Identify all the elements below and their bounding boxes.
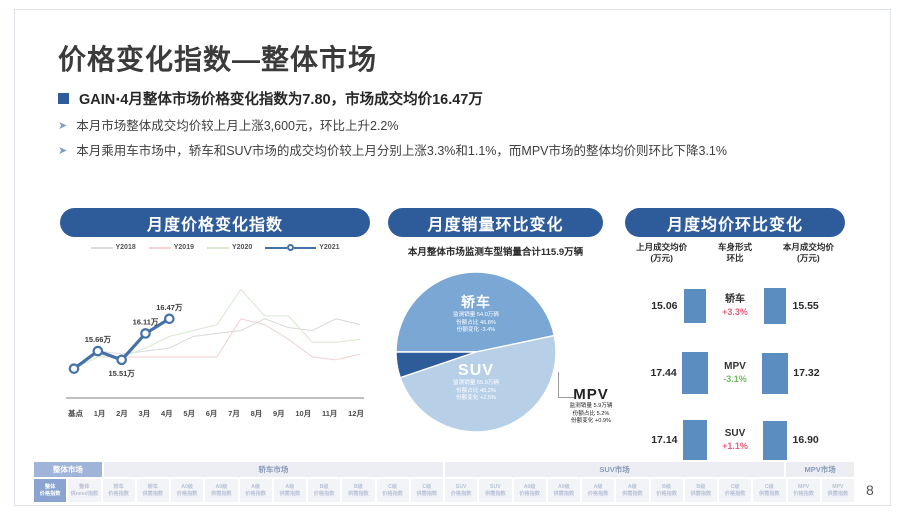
prev-value: 17.44 bbox=[625, 367, 682, 379]
bottom-nav-groups[interactable]: 整体市场轿车市场SUV市场MPV市场 bbox=[33, 461, 855, 478]
page-number: 8 bbox=[866, 482, 874, 498]
nav-tab-21[interactable]: C级供需指数 bbox=[752, 478, 786, 503]
panel-volume-share-title: 月度销量环比变化 bbox=[388, 208, 603, 237]
data-point-label: 15.66万 bbox=[85, 335, 112, 344]
prev-bar-box bbox=[683, 289, 708, 323]
line-chart-legend: Y2018Y2019Y2020Y2021 bbox=[60, 244, 370, 251]
nav-tab-line2: 供需指数 bbox=[348, 491, 369, 498]
nav-group-SUV市场[interactable]: SUV市场 bbox=[444, 461, 785, 478]
row-name: 轿车 bbox=[707, 294, 762, 306]
curr-value: 16.90 bbox=[787, 434, 845, 446]
pie-label-suv: SUV监测销量 55.9万辆份额占比 48.2%份额变化 +2.5% bbox=[416, 362, 536, 403]
bottom-navigation[interactable]: 整体市场轿车市场SUV市场MPV市场 整体价格指数整体供need指数轿车价格指数… bbox=[33, 461, 855, 503]
line-chart-x-axis: 基点1月2月3月4月5月6月7月8月9月10月11月12月 bbox=[68, 408, 364, 419]
panel-avg-price-change: 月度均价环比变化 上月成交均价(万元)车身形式环比本月成交均价(万元) 15.0… bbox=[625, 208, 845, 446]
pie-label-mpv: MPV监测销量 5.9万辆份额占比 5.2%份额变化 +0.9% bbox=[548, 386, 634, 426]
nav-group-MPV市场[interactable]: MPV市场 bbox=[785, 461, 855, 478]
prev-bar-box bbox=[682, 352, 708, 394]
nav-tab-line2: 价格指数 bbox=[314, 491, 335, 498]
pie-subtitle: 本月整体市场监测车型销量合计115.9万辆 bbox=[388, 244, 603, 258]
nav-tab-line2: 供need指数 bbox=[71, 491, 99, 498]
nav-tab-12[interactable]: SUV价格指数 bbox=[444, 478, 478, 503]
legend-label: Y2020 bbox=[232, 244, 252, 251]
nav-tab-3[interactable]: 轿车供需指数 bbox=[136, 478, 170, 503]
data-point-marker bbox=[165, 315, 173, 323]
bar-column-header: 车身形式环比 bbox=[698, 242, 771, 264]
nav-tab-line2: 价格指数 bbox=[177, 491, 198, 498]
nav-tab-1[interactable]: 整体供need指数 bbox=[67, 478, 101, 503]
pie-label-name: 轿车 bbox=[416, 292, 536, 312]
nav-tab-line2: 价格指数 bbox=[519, 491, 540, 498]
nav-tab-11[interactable]: C级供需指数 bbox=[410, 478, 444, 503]
panel-avg-price-change-title: 月度均价环比变化 bbox=[625, 208, 845, 237]
frame-top-rule bbox=[14, 9, 891, 10]
nav-group-label: SUV市场 bbox=[599, 464, 629, 475]
curr-bar bbox=[764, 288, 786, 324]
col-header-line1: 本月成交均价 bbox=[772, 242, 845, 253]
nav-tab-20[interactable]: C级价格指数 bbox=[718, 478, 752, 503]
nav-tab-line2: 供需指数 bbox=[759, 491, 780, 498]
data-point-label: 16.47万 bbox=[156, 303, 183, 312]
bar-column-headers: 上月成交均价(万元)车身形式环比本月成交均价(万元) bbox=[625, 242, 845, 264]
legend-item-Y2019: Y2019 bbox=[149, 244, 194, 251]
nav-group-label: 轿车市场 bbox=[258, 464, 288, 475]
nav-tab-line2: 价格指数 bbox=[245, 491, 266, 498]
pie-label-row: 份额变化 +2.5% bbox=[416, 395, 536, 403]
bar-row-SUV: 17.14SUV+1.1%16.90 bbox=[625, 414, 845, 466]
nav-tab-2[interactable]: 轿车价格指数 bbox=[102, 478, 136, 503]
curr-value: 17.32 bbox=[788, 367, 845, 379]
nav-tab-line2: 供需指数 bbox=[279, 491, 300, 498]
data-point-marker bbox=[117, 356, 125, 364]
nav-tab-line2: 供需指数 bbox=[690, 491, 711, 498]
col-header-line1: 上月成交均价 bbox=[625, 242, 698, 253]
bar-row-MPV: 17.44MPV-3.1%17.32 bbox=[625, 347, 845, 399]
sub-bullet-1: ➤ 本月市场整体成交均价较上月上涨3,600元，环比上升2.2% bbox=[58, 118, 399, 134]
prev-bar bbox=[684, 289, 706, 323]
legend-label: Y2019 bbox=[174, 244, 194, 251]
x-tick-label: 10月 bbox=[295, 408, 311, 419]
nav-tab-23[interactable]: MPV供需指数 bbox=[821, 478, 855, 503]
nav-tab-8[interactable]: B级价格指数 bbox=[307, 478, 341, 503]
row-label-group: 轿车+3.3% bbox=[707, 294, 762, 318]
nav-tab-6[interactable]: A级价格指数 bbox=[239, 478, 273, 503]
headline-text: GAIN‧4月整体市场价格变化指数为7.80，市场成交均价16.47万 bbox=[79, 88, 483, 109]
col-header-line1: 车身形式 bbox=[698, 242, 771, 253]
curr-bar bbox=[763, 421, 787, 460]
headline-bullet: GAIN‧4月整体市场价格变化指数为7.80，市场成交均价16.47万 bbox=[58, 88, 483, 109]
arrow-right-icon: ➤ bbox=[58, 118, 67, 134]
nav-tab-line2: 价格指数 bbox=[108, 491, 129, 498]
nav-tab-line2: 供需指数 bbox=[142, 491, 163, 498]
panel-price-index-title: 月度价格变化指数 bbox=[60, 208, 370, 237]
x-tick-label: 12月 bbox=[348, 408, 364, 419]
x-tick-label: 11月 bbox=[322, 408, 337, 419]
nav-tab-0[interactable]: 整体价格指数 bbox=[33, 478, 67, 503]
legend-item-Y2021: Y2021 bbox=[265, 244, 339, 251]
data-point-marker bbox=[70, 364, 78, 372]
bar-row-轿车: 15.06轿车+3.3%15.55 bbox=[625, 280, 845, 332]
curr-bar bbox=[762, 353, 788, 394]
row-name: SUV bbox=[707, 428, 762, 440]
bar-column-header: 上月成交均价(万元) bbox=[625, 242, 698, 264]
nav-tab-4[interactable]: A0级价格指数 bbox=[170, 478, 204, 503]
nav-tab-line2: 供需指数 bbox=[416, 491, 437, 498]
nav-tab-line2: 价格指数 bbox=[588, 491, 609, 498]
curr-bar-box bbox=[763, 421, 788, 460]
nav-tab-line2: 供需指数 bbox=[827, 491, 848, 498]
x-tick-label: 2月 bbox=[116, 408, 128, 419]
frame-bottom-rule bbox=[14, 505, 891, 506]
nav-tab-7[interactable]: A级供需指数 bbox=[273, 478, 307, 503]
nav-tab-line2: 供需指数 bbox=[485, 491, 506, 498]
sub-bullet-2-text: 本月乘用车市场中，轿车和SUV市场的成交均价较上月分别上涨3.3%和1.1%，而… bbox=[76, 143, 727, 159]
nav-tab-16[interactable]: A级价格指数 bbox=[581, 478, 615, 503]
pie-chart-plot: 轿车监测销量 54.0万辆份额占比 46.8%份额变化 -3.4%SUV监测销量… bbox=[388, 264, 603, 444]
legend-item-Y2020: Y2020 bbox=[207, 244, 252, 251]
x-tick-label: 1月 bbox=[94, 408, 106, 419]
x-tick-label: 6月 bbox=[206, 408, 218, 419]
curr-bar-box bbox=[763, 288, 788, 324]
x-tick-label: 4月 bbox=[161, 408, 173, 419]
nav-tab-line2: 供需指数 bbox=[622, 491, 643, 498]
data-point-marker bbox=[141, 329, 149, 337]
x-tick-label: 5月 bbox=[183, 408, 195, 419]
nav-tab-line2: 价格指数 bbox=[451, 491, 472, 498]
page-title: 价格变化指数—整体市场 bbox=[58, 38, 377, 78]
nav-tab-19[interactable]: B级供需指数 bbox=[684, 478, 718, 503]
col-header-line2: (万元) bbox=[625, 253, 698, 264]
x-tick-label: 9月 bbox=[273, 408, 285, 419]
slide-root: 价格变化指数—整体市场 GAIN‧4月整体市场价格变化指数为7.80，市场成交均… bbox=[0, 0, 905, 514]
nav-tab-14[interactable]: A0级价格指数 bbox=[513, 478, 547, 503]
x-tick-label: 3月 bbox=[139, 408, 151, 419]
line-chart-plot: 15.66万15.51万16.11万16.47万 基点1月2月3月4月5月6月7… bbox=[60, 256, 370, 431]
bar-column-header: 本月成交均价(万元) bbox=[772, 242, 845, 264]
panel-price-index: 月度价格变化指数 Y2018Y2019Y2020Y2021 15.66万15.5… bbox=[60, 208, 370, 433]
nav-tab-18[interactable]: B级价格指数 bbox=[650, 478, 684, 503]
pie-label-row: 份额占比 48.2% bbox=[416, 388, 536, 396]
pie-label-name: MPV bbox=[548, 386, 634, 403]
pie-label-sedan: 轿车监测销量 54.0万辆份额占比 46.8%份额变化 -3.4% bbox=[416, 292, 536, 335]
pie-label-name: SUV bbox=[416, 362, 536, 380]
x-tick-label: 8月 bbox=[251, 408, 263, 419]
row-label-group: MPV-3.1% bbox=[708, 361, 763, 385]
pie-label-row: 份额占比 46.8% bbox=[416, 320, 536, 328]
pie-label-row: 份额变化 +0.9% bbox=[548, 418, 634, 426]
nav-tab-17[interactable]: A级供需指数 bbox=[615, 478, 649, 503]
nav-tab-9[interactable]: B级供需指数 bbox=[341, 478, 375, 503]
bar-rows: 15.06轿车+3.3%15.5517.44MPV-3.1%17.3217.14… bbox=[625, 280, 845, 481]
nav-tab-13[interactable]: SUV供需指数 bbox=[478, 478, 512, 503]
nav-tab-line2: 价格指数 bbox=[725, 491, 746, 498]
nav-tab-line2: 价格指数 bbox=[40, 491, 61, 498]
prev-bar bbox=[683, 420, 707, 460]
pie-label-row: 份额变化 -3.4% bbox=[416, 327, 536, 335]
nav-tab-line2: 价格指数 bbox=[793, 491, 814, 498]
row-pct: -3.1% bbox=[708, 373, 763, 385]
bullet-square-icon bbox=[58, 93, 69, 104]
prev-bar bbox=[682, 352, 708, 394]
frame-right-rule bbox=[890, 9, 891, 506]
row-pct: +3.3% bbox=[707, 306, 762, 318]
pie-label-row: 监测销量 54.0万辆 bbox=[416, 312, 536, 320]
nav-group-整体市场[interactable]: 整体市场 bbox=[33, 461, 103, 478]
nav-group-label: MPV市场 bbox=[804, 464, 835, 475]
prev-value: 17.14 bbox=[625, 434, 683, 446]
data-point-label: 16.11万 bbox=[133, 317, 159, 326]
nav-tab-line2: 价格指数 bbox=[382, 491, 403, 498]
nav-tab-line2: 价格指数 bbox=[656, 491, 677, 498]
row-name: MPV bbox=[708, 361, 763, 373]
nav-tab-15[interactable]: A0级供需指数 bbox=[547, 478, 581, 503]
line-chart-svg: 15.66万15.51万16.11万16.47万 bbox=[60, 256, 370, 431]
sub-bullet-2: ➤ 本月乘用车市场中，轿车和SUV市场的成交均价较上月分别上涨3.3%和1.1%… bbox=[58, 143, 727, 159]
nav-tab-line2: 供需指数 bbox=[553, 491, 574, 498]
legend-label: Y2018 bbox=[116, 244, 136, 251]
x-tick-label: 基点 bbox=[68, 408, 83, 419]
arrow-right-icon: ➤ bbox=[58, 143, 67, 159]
frame-left-rule bbox=[14, 9, 15, 506]
nav-tab-5[interactable]: A0级供需指数 bbox=[204, 478, 238, 503]
row-label-group: SUV+1.1% bbox=[707, 428, 762, 452]
row-pct: +1.1% bbox=[707, 440, 762, 452]
col-header-line2: 环比 bbox=[698, 253, 771, 264]
nav-group-轿车市场[interactable]: 轿车市场 bbox=[103, 461, 444, 478]
prev-bar-box bbox=[683, 420, 708, 460]
bottom-nav-tabs[interactable]: 整体价格指数整体供need指数轿车价格指数轿车供需指数A0级价格指数A0级供需指… bbox=[33, 478, 855, 503]
x-tick-label: 7月 bbox=[228, 408, 240, 419]
pie-label-row: 监测销量 5.9万辆 bbox=[548, 403, 634, 411]
curr-bar-box bbox=[762, 353, 788, 394]
nav-group-label: 整体市场 bbox=[53, 464, 83, 475]
nav-tab-10[interactable]: C级价格指数 bbox=[376, 478, 410, 503]
prev-value: 15.06 bbox=[625, 300, 683, 312]
data-point-marker bbox=[94, 347, 102, 355]
nav-tab-line2: 供需指数 bbox=[211, 491, 232, 498]
curr-value: 15.55 bbox=[787, 300, 845, 312]
sub-bullet-1-text: 本月市场整体成交均价较上月上涨3,600元，环比上升2.2% bbox=[76, 118, 398, 134]
pie-label-row: 监测销量 55.9万辆 bbox=[416, 380, 536, 388]
nav-tab-22[interactable]: MPV价格指数 bbox=[787, 478, 821, 503]
data-point-label: 15.51万 bbox=[109, 369, 136, 378]
legend-label: Y2021 bbox=[319, 244, 339, 251]
legend-item-Y2018: Y2018 bbox=[91, 244, 136, 251]
pie-label-row: 份额占比 5.2% bbox=[548, 411, 634, 419]
col-header-line2: (万元) bbox=[772, 253, 845, 264]
panel-volume-share: 月度销量环比变化 本月整体市场监测车型销量合计115.9万辆 轿车监测销量 54… bbox=[388, 208, 603, 446]
